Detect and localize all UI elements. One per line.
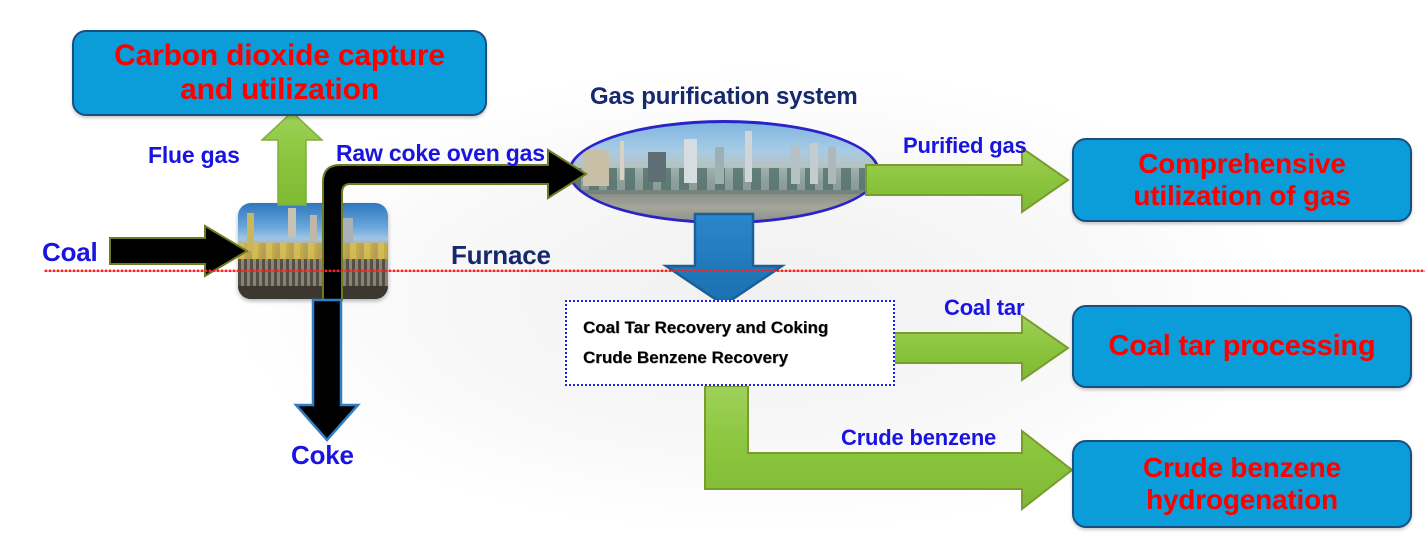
box-coal-tar-processing-label: Coal tar processing [1109,330,1376,363]
label-raw-coke-oven-gas: Raw coke oven gas [336,140,545,167]
recovery-line-2: Crude Benzene Recovery [583,343,893,373]
arrow-flue-gas [262,112,322,205]
box-gas-utilization[interactable]: Comprehensiveutilization of gas [1072,138,1412,222]
label-coke: Coke [291,440,354,471]
diagram-canvas: Carbon dioxide captureand utilization Co… [0,0,1425,548]
label-flue-gas: Flue gas [148,142,240,169]
arrow-coal-tar [893,316,1068,380]
label-coal-tar: Coal tar [944,295,1024,321]
box-gas-utilization-label: Comprehensiveutilization of gas [1133,148,1350,212]
label-coal: Coal [42,237,1425,268]
box-crude-benzene-hydrogenation[interactable]: Crude benzenehydrogenation [1072,440,1412,528]
recovery-line-1: Coal Tar Recovery and Coking [583,313,893,343]
label-purified-gas: Purified gas [903,133,1027,159]
box-recovery-processes[interactable]: Coal Tar Recovery and Coking Crude Benze… [565,300,895,386]
box-coal-tar-processing[interactable]: Coal tar processing [1072,305,1412,388]
label-gas-purification-system: Gas purification system [590,83,858,111]
arrow-coke [296,300,358,440]
label-crude-benzene: Crude benzene [841,425,996,451]
box-co2-capture[interactable]: Carbon dioxide captureand utilization [72,30,487,116]
gas-purification-photo [568,120,880,224]
label-furnace: Furnace [451,240,551,271]
box-co2-capture-label: Carbon dioxide captureand utilization [114,39,445,107]
box-crude-benzene-hydrogenation-label: Crude benzenehydrogenation [1143,452,1341,516]
